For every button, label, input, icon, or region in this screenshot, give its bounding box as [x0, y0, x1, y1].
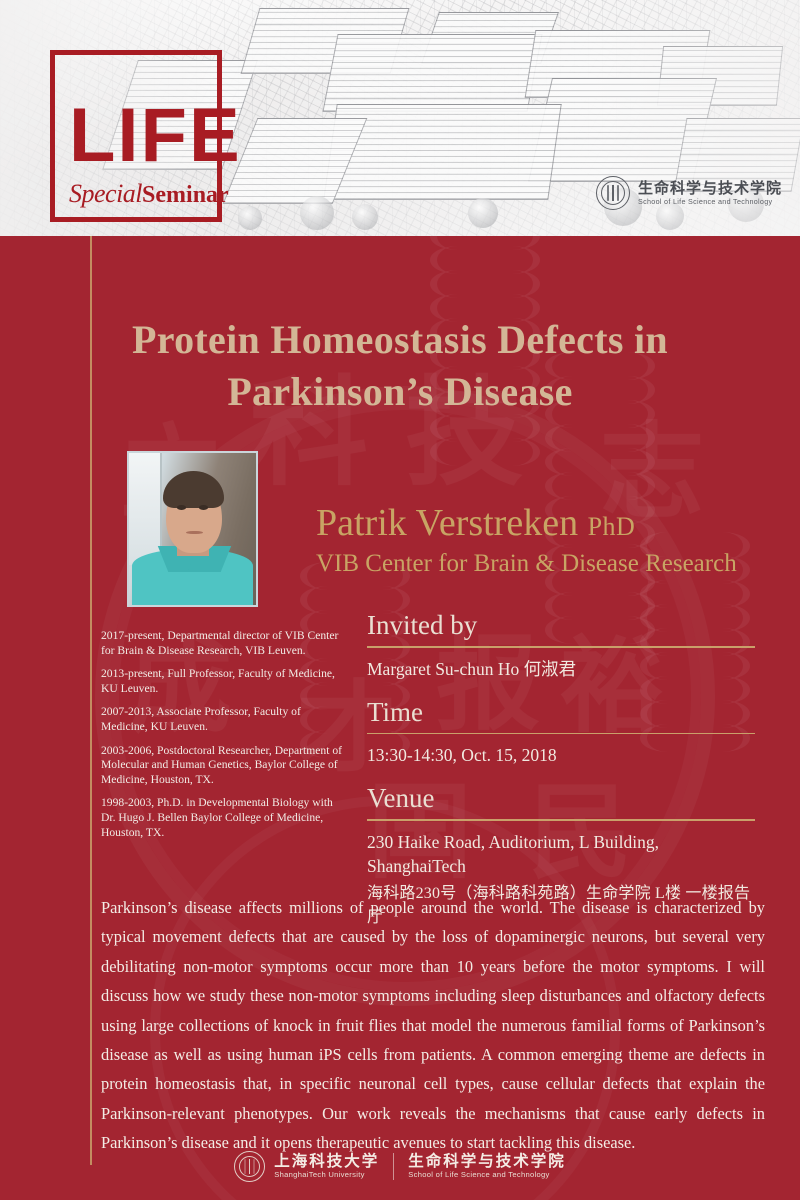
speaker-name: Patrik Verstreken PhD	[316, 501, 635, 549]
venue-value-english: 230 Haike Road, Auditorium, L Building, …	[367, 830, 757, 878]
speaker-photo	[127, 451, 258, 607]
bio-entry: 2003-2006, Postdoctoral Researcher, Depa…	[101, 744, 349, 788]
school-logo-english: School of Life Science and Technology	[638, 197, 782, 207]
bio-entry: 2007-2013, Associate Professor, Faculty …	[101, 705, 349, 734]
footer-school-chinese: 生命科学与技术学院	[408, 1153, 566, 1170]
invited-by-value: Margaret Su-chun Ho 何淑君	[367, 657, 757, 681]
footer-divider	[393, 1153, 394, 1180]
poster-footer: 上海科技大学 ShanghaiTech University 生命科学与技术学院…	[0, 1151, 800, 1182]
divider	[367, 733, 755, 735]
poster-header: LIFE SpecialSeminar 生命科学与技术学院 School of …	[0, 0, 800, 236]
speaker-name-text: Patrik Verstreken	[316, 502, 578, 544]
invited-by-label: Invited by	[367, 609, 757, 646]
bio-entry: 2013-present, Full Professor, Faculty of…	[101, 667, 349, 696]
bio-entry: 1998-2003, Ph.D. in Developmental Biolog…	[101, 796, 349, 840]
school-logo-chinese: 生命科学与技术学院	[638, 180, 782, 197]
divider	[367, 819, 755, 821]
poster-body: 科 技 立 志 成 才 报 国 裕 民 Protein Homeostasis …	[0, 236, 800, 1200]
life-special-seminar-logo: LIFE SpecialSeminar	[50, 50, 222, 222]
footer-university-chinese: 上海科技大学	[274, 1153, 379, 1170]
footer-school-english: School of Life Science and Technology	[408, 1170, 566, 1180]
speaker-biography: 2017-present, Departmental director of V…	[101, 629, 349, 849]
bio-entry: 2017-present, Departmental director of V…	[101, 629, 349, 658]
speaker-affiliation: VIB Center for Brain & Disease Research	[316, 548, 737, 580]
abstract-text: Parkinson’s disease affects millions of …	[101, 893, 765, 1158]
life-logo-subtitle: SpecialSeminar	[69, 179, 219, 209]
event-details: Invited by Margaret Su-chun Ho 何淑君 Time …	[367, 609, 757, 930]
speaker-degree: PhD	[588, 512, 636, 541]
page-title: Protein Homeostasis Defects in Parkinson…	[70, 314, 730, 418]
shanghaitech-seal-icon	[596, 176, 630, 210]
footer-university-english: ShanghaiTech University	[274, 1170, 379, 1180]
venue-label: Venue	[367, 782, 757, 819]
school-logo-header: 生命科学与技术学院 School of Life Science and Tec…	[596, 176, 782, 210]
seminar-poster: LIFE SpecialSeminar 生命科学与技术学院 School of …	[0, 0, 800, 1200]
time-value: 13:30-14:30, Oct. 15, 2018	[367, 743, 757, 767]
divider	[367, 646, 755, 648]
life-logo-wordmark: LIFE	[69, 99, 215, 173]
time-label: Time	[367, 696, 757, 733]
life-logo-seminar-text: Seminar	[142, 182, 229, 208]
life-logo-special-text: Special	[69, 179, 142, 208]
shanghaitech-seal-icon	[234, 1151, 265, 1182]
